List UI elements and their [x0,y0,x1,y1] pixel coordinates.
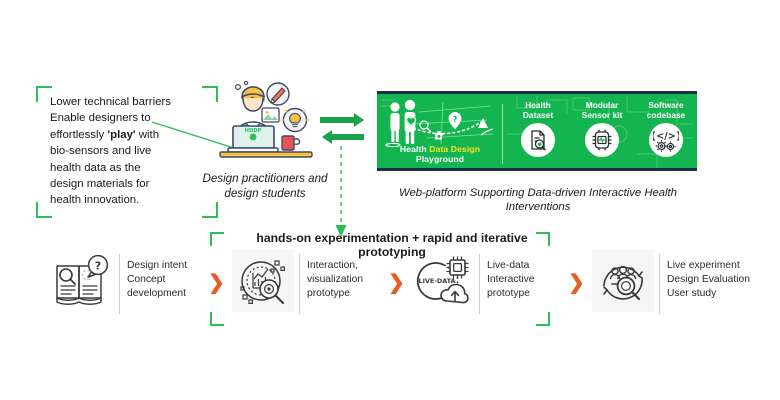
workflow-step-live-experiment-evaluation[interactable]: Live experiment Design Evaluation User s… [592,250,750,318]
feature-software-codebase[interactable]: Software codebase {</>} [635,100,697,157]
arrow-right-icon [320,113,364,127]
workflow-step-interaction-visualization[interactable]: Interaction, visualization prototype [232,250,363,318]
diagram-canvas: Lower technical barriers Enable designer… [0,0,780,400]
magnifier-icon [618,278,639,299]
feature-health-dataset[interactable]: Health Dataset [507,100,569,157]
feature-modular-sensor-kit[interactable]: Modular Sensor kit [571,100,633,157]
playground-title: Health Data Design Playground [381,144,499,164]
live-data-label: LIVE-DATA [419,277,456,285]
statement-line-2: Enable designers to [50,112,151,124]
feature-label-2: Software codebase [635,100,697,120]
platform-panel: ? Health Data Design Playground Health D… [377,91,697,171]
statement-box: Lower technical barriers Enable designer… [36,86,218,218]
designer-illustration: HDDP [212,78,318,170]
book-magnifier-question-icon: ? [52,250,114,312]
workflow-chevron-0: ❯ [208,272,224,294]
chip-icon [447,257,468,278]
step-divider [479,254,480,314]
playground-title-highlight: Data Design [429,144,480,154]
users-icon [611,267,636,279]
workflow-step-design-intent[interactable]: ? Design intent Concept development [52,250,187,318]
dataset-magnifier-icon [521,123,555,157]
workflow-step-label-0: Design intent Concept development [127,250,187,301]
laptop-label: HDDP [245,128,262,134]
map-pin-icon: ? [449,112,462,129]
step-divider [659,254,660,314]
workflow-bracket-bottom-right [536,312,550,326]
image-icon [262,108,279,122]
dashed-arrow-down-icon [334,146,348,238]
statement-line-7: health innovation. [50,194,139,206]
workflow-step-label-3: Live experiment Design Evaluation User s… [667,250,750,301]
code-gears-icon: {</>} [649,123,683,157]
workflow-bracket-bottom-left [210,312,224,326]
playground-title-part1: Health [400,144,429,154]
workflow-chevron-2: ❯ [568,272,584,294]
arrow-left-icon [322,130,364,144]
exchange-arrows [318,112,366,146]
sensor-module-icon [585,123,619,157]
lightbulb-icon [281,109,309,132]
svg-text:?: ? [95,260,101,273]
svg-text:?: ? [453,115,458,124]
step-divider [299,254,300,314]
feature-label-1: Modular Sensor kit [571,100,633,120]
chart-magnifier-icon [232,250,294,312]
workflow-step-label-1: Interaction, visualization prototype [307,250,363,301]
step-divider [119,254,120,314]
statement-line-1: Lower technical barriers [50,96,171,108]
statement-line-5: health data as the [50,162,141,174]
designer-caption: Design practitioners and design students [200,172,330,201]
workflow-chevron-1: ❯ [388,272,404,294]
workflow-step-label-2: Live-data Interactive prototype [487,250,535,301]
playground-illustration: ? [383,98,501,148]
svg-text:{</>}: {</>} [653,131,679,142]
pencil-icon [267,83,289,105]
statement-line-6: design materials for [50,178,149,190]
statement-line-3-pre: effortlessly [50,129,107,141]
live-data-cloud-chip-icon: LIVE-DATA [412,250,474,312]
statement-line-4: bio-sensors and live [50,145,151,157]
platform-divider [502,104,503,164]
question-bubble-icon: ? [88,256,107,277]
users-magnifier-cycle-icon [592,250,654,312]
workflow-step-live-data-prototype[interactable]: LIVE-DATA Live-data Interactive prototyp… [412,250,535,318]
cloud-upload-icon [441,285,468,303]
statement-text: Lower technical barriers Enable designer… [50,94,208,209]
playground-title-part2: Playground [416,154,464,164]
platform-caption: Web-platform Supporting Data-driven Inte… [368,186,708,214]
workflow-bracket-top-left [210,232,224,246]
feature-label-0: Health Dataset [507,100,569,120]
statement-play-emphasis: 'play' [107,129,135,141]
